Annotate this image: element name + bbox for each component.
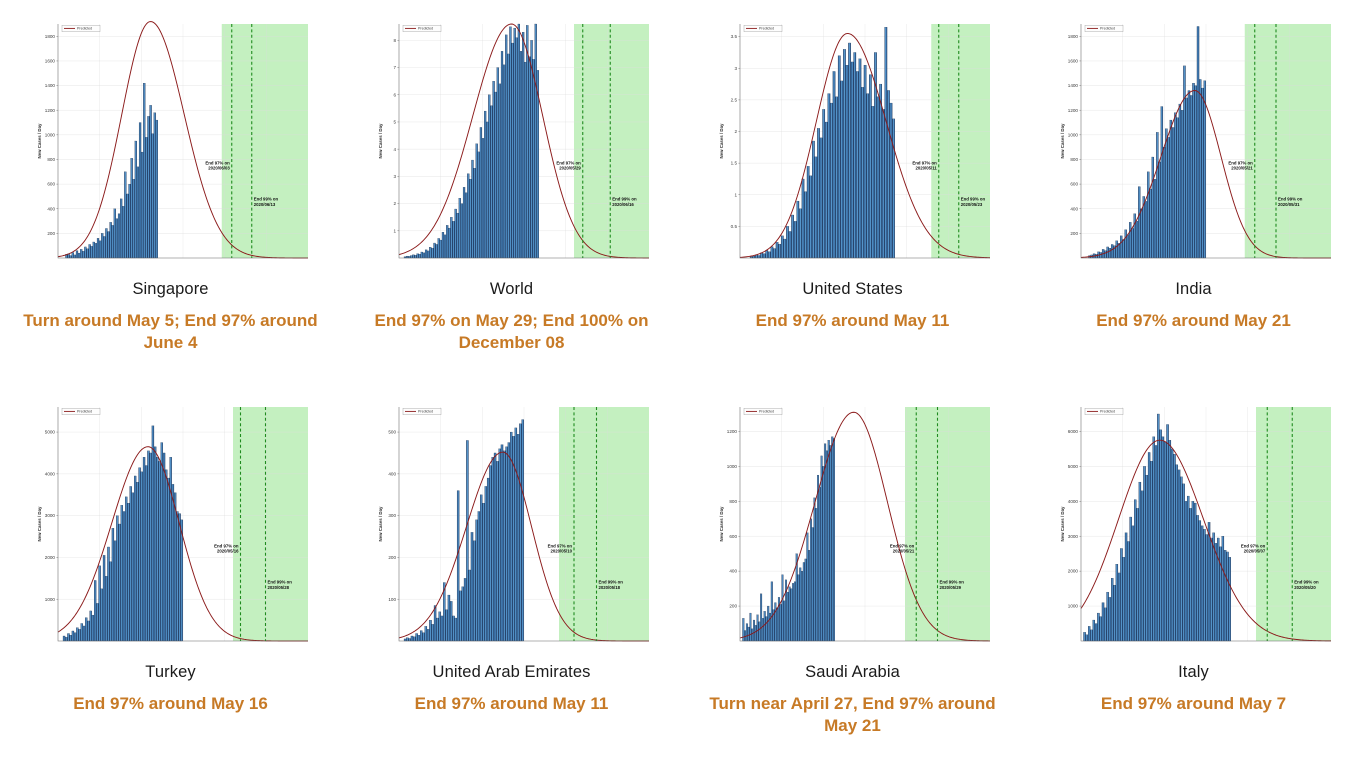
bar bbox=[804, 192, 806, 258]
bar bbox=[524, 62, 526, 258]
bar bbox=[123, 511, 125, 641]
end97-date: 2020/05/29 bbox=[559, 166, 581, 171]
end97-date: 2020/05/16 bbox=[216, 549, 238, 554]
y-tick-label: 2000 bbox=[44, 555, 55, 560]
end99-date: 2020/05/18 bbox=[598, 585, 620, 590]
bar bbox=[781, 575, 783, 641]
bar bbox=[488, 95, 490, 258]
bar bbox=[790, 589, 792, 641]
bar bbox=[446, 225, 448, 258]
plot-container: 100020003000400050006000End 97% on2020/0… bbox=[1051, 401, 1337, 651]
bar bbox=[827, 440, 829, 641]
bar bbox=[505, 447, 507, 641]
bar bbox=[412, 255, 414, 258]
bar bbox=[1183, 66, 1185, 258]
y-axis-title: New Cases / Day bbox=[378, 123, 383, 158]
end97-date: 2020/05/11 bbox=[915, 166, 937, 171]
bar bbox=[76, 628, 78, 641]
bar bbox=[444, 235, 446, 258]
bar bbox=[1150, 461, 1152, 641]
bar bbox=[1124, 230, 1126, 258]
bar bbox=[762, 618, 764, 641]
y-tick-label: 1000 bbox=[726, 464, 737, 469]
bar bbox=[101, 233, 103, 258]
bar bbox=[791, 215, 793, 258]
bar bbox=[114, 541, 116, 641]
bar bbox=[448, 228, 450, 258]
bar bbox=[470, 532, 472, 641]
y-tick-label: 200 bbox=[47, 231, 55, 236]
bar bbox=[427, 629, 429, 641]
country-label: Saudi Arabia bbox=[805, 663, 900, 682]
bar bbox=[843, 49, 845, 258]
bar bbox=[786, 592, 788, 641]
bar bbox=[143, 83, 145, 258]
bar bbox=[1203, 529, 1205, 641]
bar bbox=[1095, 624, 1097, 641]
legend-label: Predicted bbox=[418, 27, 433, 31]
bar bbox=[447, 595, 449, 641]
bar bbox=[1111, 578, 1113, 641]
bar bbox=[863, 65, 865, 258]
y-tick-label: 4000 bbox=[44, 471, 55, 476]
bar bbox=[769, 613, 771, 641]
bar bbox=[1203, 81, 1205, 258]
y-tick-label: 3 bbox=[734, 66, 737, 71]
bar bbox=[1217, 538, 1219, 641]
bar bbox=[71, 631, 73, 641]
bar bbox=[126, 194, 128, 258]
chart-plot-4: 10002000300040005000End 97% on2020/05/16… bbox=[28, 401, 314, 651]
bar bbox=[178, 514, 180, 641]
chart-plot-1: 12345678End 97% on2020/05/29End 99% on20… bbox=[369, 18, 655, 268]
bar bbox=[1168, 440, 1170, 641]
bar bbox=[866, 94, 868, 258]
bar bbox=[1154, 179, 1156, 258]
bar bbox=[1099, 252, 1101, 258]
bar bbox=[1166, 424, 1168, 641]
forecast-band bbox=[233, 407, 308, 641]
bar bbox=[781, 236, 783, 258]
end97-date: 2020/05/10 bbox=[550, 549, 572, 554]
bar bbox=[1180, 477, 1182, 641]
bar bbox=[473, 541, 475, 641]
y-tick-label: 400 bbox=[388, 471, 396, 476]
y-tick-label: 100 bbox=[388, 597, 396, 602]
bar bbox=[794, 582, 796, 641]
bar bbox=[774, 603, 776, 641]
chart-plot-7: 100020003000400050006000End 97% on2020/0… bbox=[1051, 401, 1337, 651]
y-tick-label: 400 bbox=[729, 569, 737, 574]
bar bbox=[1158, 162, 1160, 258]
bar bbox=[1205, 534, 1207, 641]
bar bbox=[92, 242, 94, 258]
y-axis-title: New Cases / Day bbox=[378, 506, 383, 541]
bar bbox=[754, 625, 756, 641]
bar bbox=[809, 176, 811, 258]
y-tick-label: 800 bbox=[1070, 157, 1078, 162]
bar bbox=[486, 122, 488, 258]
bar bbox=[441, 232, 443, 258]
bar bbox=[1171, 449, 1173, 641]
bar bbox=[454, 618, 456, 641]
bar bbox=[73, 255, 75, 258]
bar bbox=[1194, 86, 1196, 258]
bar bbox=[507, 54, 509, 258]
bar bbox=[858, 59, 860, 258]
bar bbox=[810, 519, 812, 641]
bar bbox=[109, 222, 111, 258]
bar bbox=[87, 621, 89, 641]
forecast-caption: Turn around May 5; End 97% around June 4 bbox=[18, 310, 323, 354]
bar bbox=[477, 511, 479, 641]
y-axis-title: New Cases / Day bbox=[37, 123, 42, 158]
end97-date: 2020/05/21 bbox=[1231, 166, 1253, 171]
bar bbox=[1090, 630, 1092, 641]
bar bbox=[482, 503, 484, 641]
bar bbox=[507, 443, 509, 641]
bar bbox=[811, 527, 813, 641]
bar bbox=[1181, 110, 1183, 258]
bar bbox=[1214, 543, 1216, 641]
bar bbox=[770, 582, 772, 641]
forecast-caption: End 97% on May 29; End 100% on December … bbox=[359, 310, 664, 354]
bar bbox=[132, 179, 134, 258]
end99-date: 2020/06/16 bbox=[612, 202, 634, 207]
bar bbox=[88, 244, 90, 258]
country-label: India bbox=[1175, 280, 1211, 299]
bar bbox=[475, 520, 477, 641]
bar bbox=[105, 228, 107, 258]
bar bbox=[783, 239, 785, 258]
bar bbox=[850, 62, 852, 258]
bar bbox=[1085, 635, 1087, 641]
bar bbox=[180, 520, 182, 641]
bar bbox=[1156, 132, 1158, 258]
bar bbox=[1185, 98, 1187, 258]
y-tick-label: 800 bbox=[729, 499, 737, 504]
bar bbox=[154, 447, 156, 641]
bar bbox=[460, 204, 462, 258]
bar bbox=[99, 241, 101, 258]
bar bbox=[501, 51, 503, 258]
bar bbox=[1172, 127, 1174, 258]
bar bbox=[424, 626, 426, 641]
bar bbox=[820, 456, 822, 641]
y-tick-label: 3000 bbox=[44, 513, 55, 518]
y-tick-label: 200 bbox=[729, 604, 737, 609]
bar bbox=[417, 635, 419, 641]
bar bbox=[526, 25, 528, 258]
bar bbox=[804, 559, 806, 641]
bar bbox=[174, 493, 176, 641]
bar bbox=[806, 166, 808, 258]
bar bbox=[530, 40, 532, 258]
bar bbox=[763, 611, 765, 641]
bar bbox=[494, 453, 496, 641]
bar bbox=[812, 141, 814, 258]
bar bbox=[134, 476, 136, 641]
bar bbox=[118, 214, 120, 258]
bar bbox=[494, 92, 496, 258]
bar bbox=[829, 445, 831, 641]
y-tick-label: 200 bbox=[388, 555, 396, 560]
bar bbox=[786, 226, 788, 258]
bar bbox=[107, 232, 109, 258]
y-tick-label: 5000 bbox=[44, 430, 55, 435]
bar bbox=[503, 65, 505, 258]
plot-container: 10002000300040005000End 97% on2020/05/16… bbox=[28, 401, 314, 651]
bar bbox=[122, 206, 124, 258]
bar bbox=[163, 453, 165, 641]
forecast-caption: End 97% around May 21 bbox=[1041, 310, 1346, 332]
bar bbox=[747, 627, 749, 641]
bar bbox=[103, 555, 105, 641]
bar bbox=[818, 487, 820, 641]
bar bbox=[1219, 547, 1221, 641]
y-tick-label: 400 bbox=[47, 206, 55, 211]
bar bbox=[1224, 550, 1226, 641]
bar bbox=[167, 478, 169, 641]
chart-cell-united-arab-emirates: 100200300400500End 97% on2020/05/10End 9… bbox=[341, 383, 682, 766]
bar bbox=[491, 457, 493, 641]
chart-cell-united-states: 0.511.522.533.5End 97% on2020/05/11End 9… bbox=[682, 0, 1023, 383]
bar bbox=[1163, 147, 1165, 258]
bar bbox=[160, 443, 162, 641]
end97-date: 2020/06/03 bbox=[208, 166, 230, 171]
y-tick-label: 4 bbox=[393, 147, 396, 152]
bar bbox=[129, 486, 131, 641]
bar bbox=[1131, 526, 1133, 641]
bar bbox=[463, 187, 465, 258]
bar bbox=[82, 251, 84, 258]
bar bbox=[1138, 187, 1140, 258]
bar bbox=[80, 249, 82, 258]
bar bbox=[97, 238, 99, 258]
bar bbox=[1191, 501, 1193, 641]
bar bbox=[404, 639, 406, 641]
chart-plot-2: 0.511.522.533.5End 97% on2020/05/11End 9… bbox=[710, 18, 996, 268]
y-tick-label: 1000 bbox=[1067, 604, 1078, 609]
bar bbox=[469, 179, 471, 258]
end99-date: 2020/05/23 bbox=[960, 202, 982, 207]
bar bbox=[1083, 632, 1085, 641]
y-axis-title: New Cases / Day bbox=[719, 123, 724, 158]
y-tick-label: 3.5 bbox=[730, 34, 737, 39]
bar bbox=[408, 638, 410, 641]
chart-plot-5: 100200300400500End 97% on2020/05/10End 9… bbox=[369, 401, 655, 651]
bar bbox=[84, 247, 86, 258]
bar bbox=[100, 589, 102, 641]
bar bbox=[831, 437, 833, 641]
bar bbox=[422, 633, 424, 641]
bar bbox=[522, 32, 524, 258]
bar bbox=[91, 615, 93, 641]
y-tick-label: 1.5 bbox=[730, 161, 737, 166]
bar bbox=[78, 629, 80, 641]
bar bbox=[80, 623, 82, 641]
bar bbox=[1140, 209, 1142, 258]
bar bbox=[826, 451, 828, 641]
bar bbox=[757, 255, 759, 258]
bar bbox=[519, 424, 521, 641]
bar bbox=[796, 201, 798, 258]
bar bbox=[105, 576, 107, 641]
bar bbox=[484, 111, 486, 258]
plot-container: 20040060080010001200End 97% on2020/05/21… bbox=[710, 401, 996, 651]
bar bbox=[450, 217, 452, 258]
legend-label: Predicted bbox=[1100, 27, 1115, 31]
bar bbox=[1126, 235, 1128, 258]
bar bbox=[94, 580, 96, 641]
bar bbox=[156, 457, 158, 641]
bar bbox=[151, 426, 153, 641]
bar bbox=[145, 137, 147, 258]
forecast-band bbox=[574, 24, 649, 258]
bar bbox=[1159, 430, 1161, 641]
bar bbox=[756, 615, 758, 641]
y-tick-label: 2.5 bbox=[730, 97, 737, 102]
bar bbox=[765, 617, 767, 641]
bar bbox=[1141, 491, 1143, 641]
y-tick-label: 2 bbox=[734, 129, 737, 134]
bar bbox=[1201, 526, 1203, 641]
bar bbox=[1129, 222, 1131, 258]
bar bbox=[1152, 437, 1154, 641]
bar bbox=[799, 209, 801, 258]
bar bbox=[147, 451, 149, 641]
bar bbox=[1187, 496, 1189, 641]
country-label: Italy bbox=[1178, 663, 1209, 682]
bar bbox=[856, 71, 858, 258]
bar bbox=[127, 503, 129, 641]
bar bbox=[69, 635, 71, 641]
bar bbox=[438, 612, 440, 641]
bar bbox=[513, 28, 515, 258]
y-axis-title: New Cases / Day bbox=[1060, 123, 1065, 158]
bar bbox=[433, 243, 435, 258]
bar bbox=[760, 594, 762, 641]
bar bbox=[83, 626, 85, 641]
bar bbox=[887, 90, 889, 258]
bar bbox=[416, 254, 418, 258]
bar bbox=[139, 123, 141, 258]
bar bbox=[1207, 522, 1209, 641]
bar bbox=[744, 631, 746, 641]
bar bbox=[90, 246, 92, 258]
bar bbox=[98, 566, 100, 641]
bar bbox=[1144, 201, 1146, 258]
bar bbox=[1120, 548, 1122, 641]
bar bbox=[484, 486, 486, 641]
bar bbox=[827, 94, 829, 258]
bar bbox=[1097, 613, 1099, 641]
bar bbox=[89, 611, 91, 641]
bar bbox=[445, 610, 447, 641]
bar bbox=[768, 252, 770, 258]
y-tick-label: 500 bbox=[388, 430, 396, 435]
y-tick-label: 1000 bbox=[44, 132, 55, 137]
bar bbox=[882, 109, 884, 258]
y-axis-title: New Cases / Day bbox=[37, 506, 42, 541]
bar bbox=[879, 84, 881, 258]
forecast-caption: End 97% around May 11 bbox=[700, 310, 1005, 332]
end99-date: 2020/05/20 bbox=[1294, 585, 1316, 590]
bar bbox=[1149, 189, 1151, 258]
bar bbox=[775, 242, 777, 258]
bar bbox=[456, 213, 458, 258]
bar bbox=[1127, 541, 1129, 641]
bar bbox=[429, 620, 431, 641]
chart-plot-6: 20040060080010001200End 97% on2020/05/21… bbox=[710, 401, 996, 651]
bar bbox=[528, 57, 530, 258]
y-tick-label: 1 bbox=[393, 228, 396, 233]
bar bbox=[115, 219, 117, 258]
plot-container: 100200300400500End 97% on2020/05/10End 9… bbox=[369, 401, 655, 651]
bar bbox=[120, 199, 122, 258]
bar bbox=[120, 505, 122, 641]
bar bbox=[510, 432, 512, 641]
y-tick-label: 0.5 bbox=[730, 224, 737, 229]
y-tick-label: 1800 bbox=[44, 34, 55, 39]
bar bbox=[749, 613, 751, 641]
forecast-caption: Turn near April 27, End 97% around May 2… bbox=[700, 693, 1005, 737]
bar bbox=[155, 120, 157, 258]
legend-label: Predicted bbox=[1100, 410, 1115, 414]
bar bbox=[1138, 482, 1140, 641]
bar bbox=[892, 119, 894, 258]
bar bbox=[490, 106, 492, 258]
bar bbox=[452, 616, 454, 641]
bar bbox=[817, 128, 819, 258]
bar bbox=[520, 51, 522, 258]
bar bbox=[466, 440, 468, 641]
bar bbox=[1173, 454, 1175, 641]
y-tick-label: 1400 bbox=[1067, 83, 1078, 88]
bar bbox=[765, 250, 767, 258]
bar bbox=[414, 255, 416, 258]
chart-cell-india: 20040060080010001200140016001800End 97% … bbox=[1023, 0, 1364, 383]
bar bbox=[1148, 452, 1150, 641]
bar bbox=[1118, 573, 1120, 641]
bar bbox=[138, 468, 140, 641]
chart-plot-3: 20040060080010001200140016001800End 97% … bbox=[1051, 18, 1337, 268]
bar bbox=[141, 152, 143, 258]
bar bbox=[131, 493, 133, 641]
bar bbox=[1101, 603, 1103, 641]
chart-cell-turkey: 10002000300040005000End 97% on2020/05/16… bbox=[0, 383, 341, 766]
bar bbox=[1160, 107, 1162, 258]
bar bbox=[145, 466, 147, 642]
bar bbox=[1131, 228, 1133, 258]
bar bbox=[1184, 501, 1186, 641]
bar bbox=[1187, 91, 1189, 258]
chart-cell-saudi-arabia: 20040060080010001200End 97% on2020/05/21… bbox=[682, 383, 1023, 766]
bar bbox=[783, 601, 785, 641]
bar bbox=[1190, 95, 1192, 258]
bar bbox=[113, 209, 115, 258]
bar bbox=[116, 516, 118, 641]
bar bbox=[413, 637, 415, 641]
bar bbox=[435, 244, 437, 258]
forecast-band bbox=[221, 24, 307, 258]
chart-grid: 20040060080010001200140016001800End 97% … bbox=[0, 0, 1364, 766]
y-tick-label: 1600 bbox=[1067, 59, 1078, 64]
bar bbox=[1169, 120, 1171, 258]
bar bbox=[477, 152, 479, 258]
end99-date: 2020/05/29 bbox=[939, 585, 961, 590]
y-axis-title: New Cases / Day bbox=[1060, 506, 1065, 541]
